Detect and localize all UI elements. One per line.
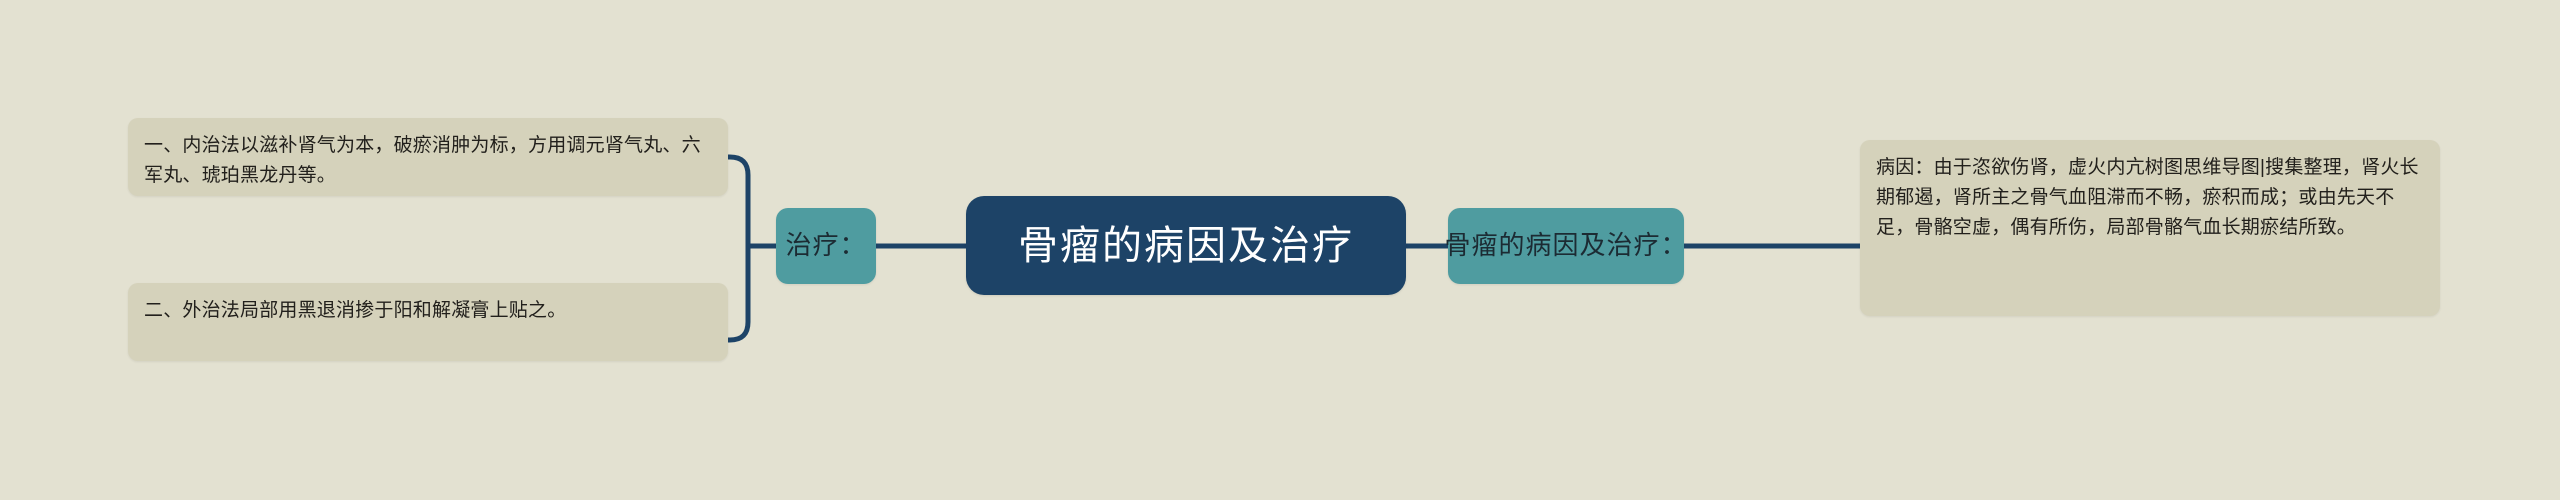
leaf-node-internal-therapy[interactable]: 一、内治法以滋补肾气为本，破瘀消肿为标，方用调元肾气丸、六军丸、琥珀黑龙丹等。	[128, 118, 728, 196]
leaf-node-etiology-label: 病因：由于恣欲伤肾，虚火内亢树图思维导图|搜集整理，肾火长期郁遏，肾所主之骨气血…	[1876, 153, 2424, 243]
root-node-label: 骨瘤的病因及治疗	[1018, 224, 1354, 268]
leaf-node-internal-therapy-label: 一、内治法以滋补肾气为本，破瘀消肿为标，方用调元肾气丸、六军丸、琥珀黑龙丹等。	[144, 131, 712, 191]
branch-node-treatment[interactable]: 治疗：	[776, 208, 876, 284]
leaf-node-etiology[interactable]: 病因：由于恣欲伤肾，虚火内亢树图思维导图|搜集整理，肾火长期郁遏，肾所主之骨气血…	[1860, 140, 2440, 316]
mindmap-canvas: 骨瘤的病因及治疗 治疗： 骨瘤的病因及治疗： 一、内治法以滋补肾气为本，破瘀消肿…	[0, 0, 2560, 500]
branch-node-overview-label: 骨瘤的病因及治疗：	[1445, 231, 1688, 261]
branch-node-treatment-label: 治疗：	[786, 231, 867, 261]
branch-node-overview[interactable]: 骨瘤的病因及治疗：	[1448, 208, 1684, 284]
leaf-node-external-therapy-label: 二、外治法局部用黑退消掺于阳和解凝膏上贴之。	[144, 296, 712, 326]
leaf-node-external-therapy[interactable]: 二、外治法局部用黑退消掺于阳和解凝膏上贴之。	[128, 283, 728, 361]
root-node[interactable]: 骨瘤的病因及治疗	[966, 196, 1406, 295]
